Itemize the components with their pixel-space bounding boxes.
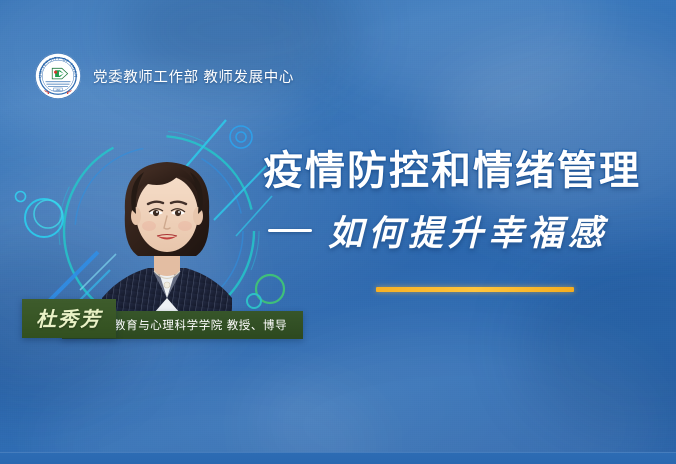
background-cloud-dark (520, 250, 676, 440)
background-cloud (250, 330, 670, 464)
lecture-title-slide: UNIVERSITY OF JINAN 1948 党委教师工作部 教师发展中心 (0, 0, 676, 464)
page-subtitle: 如何提升幸福感 (328, 205, 608, 256)
decorative-green-small-circle (245, 292, 263, 310)
background-cloud (300, 0, 600, 100)
speaker-name: 杜秀芳 (36, 307, 102, 331)
decorative-small-circle (14, 190, 27, 203)
gold-accent-bar (376, 287, 574, 292)
decorative-double-circle (22, 196, 66, 240)
background-cloud (40, 370, 380, 464)
speaker-name-banner: 杜秀芳 (22, 299, 116, 338)
page-title: 疫情防控和情绪管理 (263, 138, 641, 196)
svg-text:1948: 1948 (56, 89, 62, 91)
decorative-green-circle (253, 272, 287, 306)
speaker-portrait (92, 140, 242, 320)
dash-rule (268, 229, 312, 232)
bottom-strip (0, 452, 676, 464)
university-seal-icon: UNIVERSITY OF JINAN 1948 (34, 52, 82, 100)
subtitle-row: 如何提升幸福感 (268, 205, 608, 256)
header-lockup: UNIVERSITY OF JINAN 1948 党委教师工作部 教师发展中心 (34, 52, 294, 100)
organization-label: 党委教师工作部 教师发展中心 (93, 66, 294, 87)
speaker-credentials: 教育与心理科学学院 教授、博导 (114, 317, 287, 333)
